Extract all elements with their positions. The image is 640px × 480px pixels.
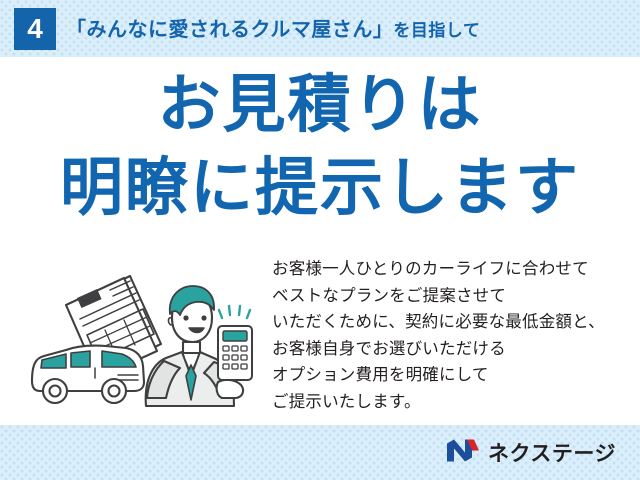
body-line: ご提示いたします。 (272, 389, 632, 416)
body-line: ベストなプランをご提案させて (272, 283, 632, 310)
headline-line-1: お見積りは (0, 74, 640, 137)
nextage-n-logo-icon (446, 437, 480, 468)
header-title-sub: を目指して (393, 21, 480, 40)
body-line: お客様自身でお選びいただける (272, 336, 632, 363)
body-line: オプション費用を明確にして (272, 362, 632, 389)
header-title: 「みんなに愛されるクルマ屋さん」を目指して (66, 13, 480, 42)
slide-canvas: 4 「みんなに愛されるクルマ屋さん」を目指して お見積りは 明瞭に提示します お… (0, 0, 640, 480)
body-line: お客様一人ひとりのカーライフに合わせて (272, 256, 632, 283)
header-title-main: 「みんなに愛されるクルマ屋さん」 (66, 19, 393, 41)
footer-band: ネクステージ (0, 425, 640, 480)
body-line: いただくために、契約に必要な最低金額と、 (272, 309, 632, 336)
page-title: お見積りは 明瞭に提示します (0, 74, 640, 220)
sparkle-icon (219, 306, 250, 318)
illustration-salesman-quote-van (14, 258, 264, 423)
body-paragraph: お客様一人ひとりのカーライフに合わせて ベストなプランをご提案させて いただくた… (272, 256, 632, 415)
header-band: 4 「みんなに愛されるクルマ屋さん」を目指して (0, 0, 640, 57)
brand-logo: ネクステージ (446, 437, 616, 468)
headline-line-2: 明瞭に提示します (0, 157, 640, 220)
section-number-label: 4 (27, 15, 43, 43)
calculator (218, 326, 252, 380)
section-number-badge: 4 (14, 8, 56, 50)
brand-name-label: ネクステージ (488, 438, 616, 468)
van-illustration (32, 346, 144, 403)
